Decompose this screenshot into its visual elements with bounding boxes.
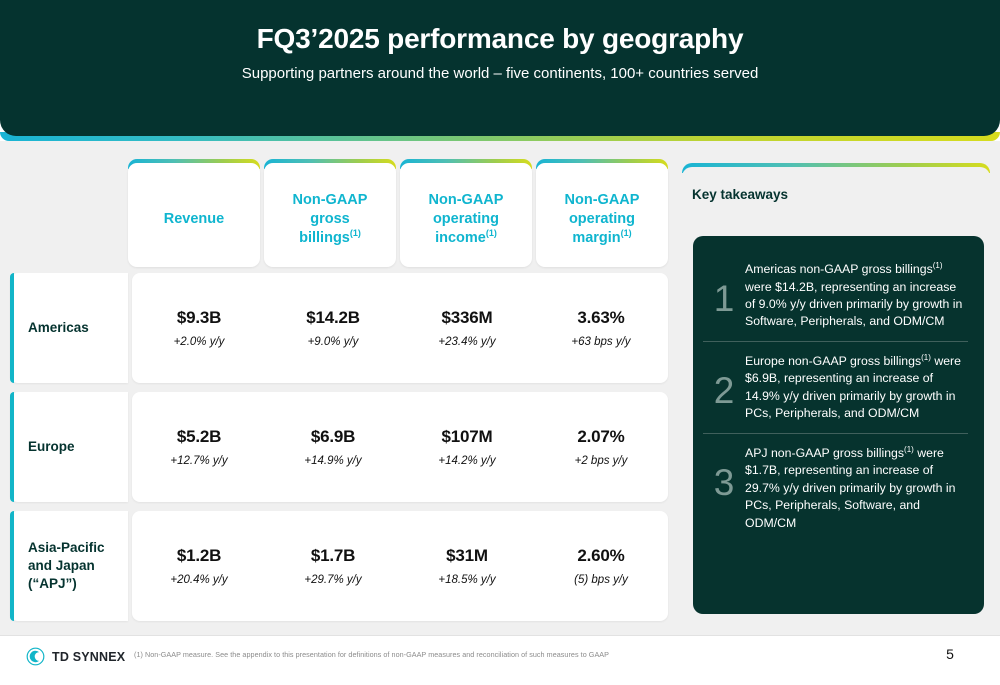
td-synnex-logo: TD SYNNEX <box>26 647 125 666</box>
list-item: 1 Americas non-GAAP gross billings(1) we… <box>703 250 968 341</box>
cell-operating-income: $31M +18.5% y/y <box>400 511 534 621</box>
cell-delta: +63 bps y/y <box>571 336 630 348</box>
cell-value: 3.63% <box>577 308 624 328</box>
cell-value: 2.07% <box>577 427 624 447</box>
row-label: Asia-Pacific and Japan (“APJ”) <box>28 539 105 593</box>
cell-value: $14.2B <box>306 308 360 328</box>
cell-value: $336M <box>442 308 493 328</box>
footnote-marker: (1) <box>904 445 914 454</box>
row-label: Europe <box>28 438 75 456</box>
key-takeaways-title: Key takeaways <box>692 187 788 202</box>
column-header-non-gaap-operating-margin: Non-GAAP operating margin(1) <box>536 163 668 267</box>
cell-gross-billings: $6.9B +14.9% y/y <box>266 392 400 502</box>
takeaway-number: 1 <box>703 258 745 317</box>
cell-delta: +9.0% y/y <box>308 336 359 348</box>
geography-table: Americas $9.3B +2.0% y/y $14.2B +9.0% y/… <box>10 273 668 630</box>
column-header-line1: Revenue <box>164 211 224 227</box>
cell-delta: +14.9% y/y <box>304 455 361 467</box>
row-accent-bar <box>10 273 14 383</box>
takeaway-text-before: Americas non-GAAP gross billings <box>745 262 933 276</box>
td-synnex-mark-icon <box>26 647 45 666</box>
row-label: Americas <box>28 319 89 337</box>
takeaways-accent-mask <box>682 167 990 177</box>
cell-operating-income: $107M +14.2% y/y <box>400 392 534 502</box>
logo-wordmark: TD SYNNEX <box>52 650 125 664</box>
column-header-non-gaap-gross-billings: Non-GAAP gross billings(1) <box>264 163 396 267</box>
row-data-americas: $9.3B +2.0% y/y $14.2B +9.0% y/y $336M +… <box>132 273 668 383</box>
column-header-revenue: Revenue <box>128 163 260 267</box>
list-item: 3 APJ non-GAAP gross billings(1) were $1… <box>703 433 968 542</box>
cell-operating-margin: 3.63% +63 bps y/y <box>534 273 668 383</box>
row-data-apj: $1.2B +20.4% y/y $1.7B +29.7% y/y $31M +… <box>132 511 668 621</box>
footnote-marker: (1) <box>486 228 497 238</box>
table-row: Europe $5.2B +12.7% y/y $6.9B +14.9% y/y… <box>10 392 668 502</box>
column-header-line3: margin <box>572 229 620 245</box>
cell-delta: +20.4% y/y <box>170 574 227 586</box>
column-header-line2: gross <box>310 211 350 227</box>
column-header-line3: income <box>435 229 486 245</box>
takeaway-text-before: APJ non-GAAP gross billings <box>745 446 904 460</box>
cell-value: $6.9B <box>311 427 355 447</box>
cell-operating-margin: 2.07% +2 bps y/y <box>534 392 668 502</box>
cell-delta: +2.0% y/y <box>174 336 225 348</box>
row-accent-bar <box>10 511 14 621</box>
takeaway-text: Americas non-GAAP gross billings(1) were… <box>745 258 968 331</box>
row-label-cell-europe: Europe <box>10 392 128 502</box>
footnote-marker: (1) <box>350 228 361 238</box>
takeaway-number: 2 <box>703 350 745 409</box>
column-header-line2: operating <box>433 211 499 227</box>
row-data-europe: $5.2B +12.7% y/y $6.9B +14.9% y/y $107M … <box>132 392 668 502</box>
key-takeaways-panel: 1 Americas non-GAAP gross billings(1) we… <box>693 236 984 614</box>
page-number: 5 <box>930 646 970 662</box>
cell-delta: +18.5% y/y <box>438 574 495 586</box>
cell-delta: +29.7% y/y <box>304 574 361 586</box>
takeaway-text-after: were $14.2B, representing an increase of… <box>745 280 962 329</box>
table-column-headers: Revenue Non-GAAP gross billings(1) Non-G… <box>128 163 668 267</box>
footnote-marker: (1) <box>921 353 931 362</box>
table-row: Asia-Pacific and Japan (“APJ”) $1.2B +20… <box>10 511 668 621</box>
row-label-line2: and Japan <box>28 558 95 573</box>
row-label-cell-americas: Americas <box>10 273 128 383</box>
cell-revenue: $5.2B +12.7% y/y <box>132 392 266 502</box>
cell-value: $9.3B <box>177 308 221 328</box>
cell-value: $5.2B <box>177 427 221 447</box>
table-row: Americas $9.3B +2.0% y/y $14.2B +9.0% y/… <box>10 273 668 383</box>
footnote-text: (1) Non-GAAP measure. See the appendix t… <box>134 650 609 659</box>
column-header-line2: operating <box>569 211 635 227</box>
column-header-line1: Non-GAAP <box>429 192 504 208</box>
cell-operating-income: $336M +23.4% y/y <box>400 273 534 383</box>
cell-delta: +2 bps y/y <box>575 455 628 467</box>
cell-value: $1.7B <box>311 546 355 566</box>
cell-delta: +23.4% y/y <box>438 336 495 348</box>
column-header-line3: billings <box>299 229 350 245</box>
row-label-line1: Asia-Pacific <box>28 540 105 555</box>
cell-revenue: $9.3B +2.0% y/y <box>132 273 266 383</box>
footer-divider <box>0 635 1000 636</box>
cell-operating-margin: 2.60% (5) bps y/y <box>534 511 668 621</box>
list-item: 2 Europe non-GAAP gross billings(1) were… <box>703 341 968 433</box>
row-label-cell-apj: Asia-Pacific and Japan (“APJ”) <box>10 511 128 621</box>
slide-header: FQ3’2025 performance by geography Suppor… <box>0 0 1000 136</box>
cell-delta: +12.7% y/y <box>170 455 227 467</box>
cell-delta: +14.2% y/y <box>438 455 495 467</box>
row-label-line3: (“APJ”) <box>28 576 77 591</box>
cell-delta: (5) bps y/y <box>574 574 628 586</box>
cell-value: $31M <box>446 546 488 566</box>
footer-background <box>0 635 1000 685</box>
takeaway-text-before: Europe non-GAAP gross billings <box>745 354 921 368</box>
cell-value: $107M <box>442 427 493 447</box>
takeaway-text: APJ non-GAAP gross billings(1) were $1.7… <box>745 442 968 532</box>
takeaway-text: Europe non-GAAP gross billings(1) were $… <box>745 350 968 423</box>
cell-value: 2.60% <box>577 546 624 566</box>
cell-value: $1.2B <box>177 546 221 566</box>
column-header-label: Revenue <box>164 210 224 228</box>
footnote-marker: (1) <box>933 261 943 270</box>
column-header-non-gaap-operating-income: Non-GAAP operating income(1) <box>400 163 532 267</box>
column-header-label: Non-GAAP operating income(1) <box>429 191 504 246</box>
column-header-line1: Non-GAAP <box>293 192 368 208</box>
column-header-label: Non-GAAP gross billings(1) <box>293 191 368 246</box>
page-title: FQ3’2025 performance by geography <box>0 23 1000 55</box>
footnote-marker: (1) <box>621 228 632 238</box>
page-subtitle: Supporting partners around the world – f… <box>0 65 1000 82</box>
cell-revenue: $1.2B +20.4% y/y <box>132 511 266 621</box>
key-takeaways-section: Key takeaways 1 Americas non-GAAP gross … <box>682 163 990 621</box>
takeaway-number: 3 <box>703 442 745 501</box>
row-accent-bar <box>10 392 14 502</box>
cell-gross-billings: $1.7B +29.7% y/y <box>266 511 400 621</box>
cell-gross-billings: $14.2B +9.0% y/y <box>266 273 400 383</box>
column-header-label: Non-GAAP operating margin(1) <box>565 191 640 246</box>
column-header-line1: Non-GAAP <box>565 192 640 208</box>
